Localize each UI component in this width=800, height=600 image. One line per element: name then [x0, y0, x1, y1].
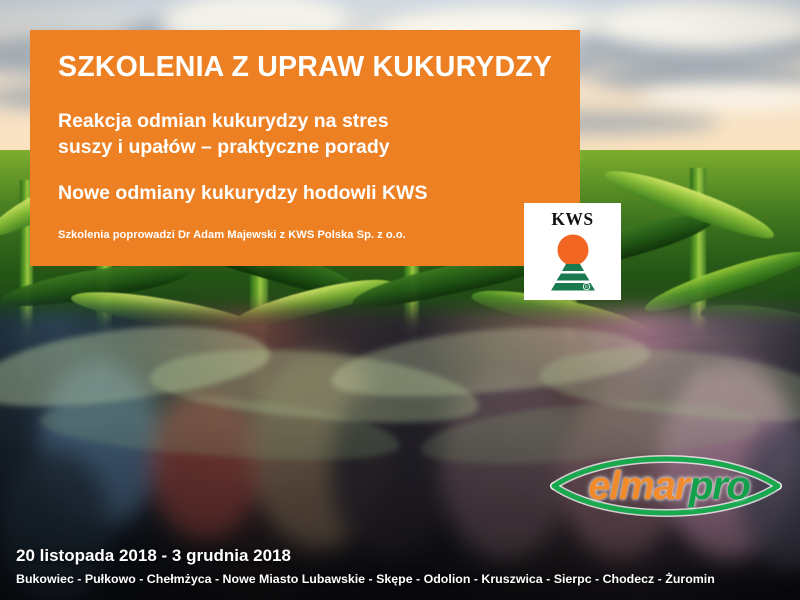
svg-text:R: R: [585, 284, 588, 289]
promotional-banner: SZKOLENIA Z UPRAW KUKURYDZY Reakcja odmi…: [0, 0, 800, 600]
kws-logo: KWS R: [524, 203, 621, 300]
elmarpro-wordmark-part1: elmar: [588, 466, 689, 506]
elmarpro-wordmark-part2: pro: [689, 466, 750, 506]
elmarpro-wordmark: elmarpro: [548, 444, 784, 528]
elmarpro-logo: elmarpro: [548, 444, 784, 528]
headline-panel: SZKOLENIA Z UPRAW KUKURYDZY Reakcja odmi…: [30, 30, 580, 266]
page-title: SZKOLENIA Z UPRAW KUKURYDZY: [58, 52, 552, 83]
event-locations: Bukowiec - Pułkowo - Chełmżyca - Nowe Mi…: [16, 572, 715, 586]
subtitle-line-2: suszy i upałów – praktyczne porady: [58, 135, 552, 161]
kws-wordmark: KWS: [551, 211, 593, 229]
subtitle-line-3: Nowe odmiany kukurydzy hodowli KWS: [58, 181, 552, 207]
event-dates: 20 listopada 2018 - 3 grudnia 2018: [16, 546, 291, 566]
subtitle-line-1: Reakcja odmian kukurydzy na stres: [58, 109, 552, 135]
presenter-note: Szkolenia poprowadzi Dr Adam Majewski z …: [58, 229, 552, 241]
kws-sun-field-icon: R: [536, 231, 610, 293]
